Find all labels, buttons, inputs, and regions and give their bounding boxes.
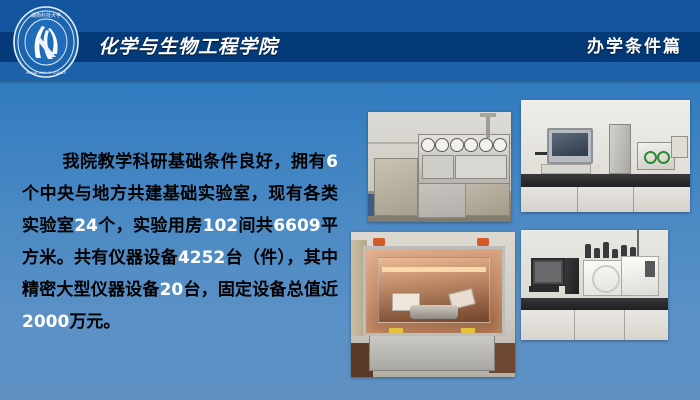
university-seal-logo: 湖南科技大学 HUNAN UNIV. OF SCIENCE [12, 6, 80, 78]
body-text-run: 台，固定设备总值近 [183, 280, 338, 300]
header-band-top [0, 0, 700, 32]
body-text-run: 我院教学科研基础条件良好，拥有 [63, 152, 327, 172]
body-stat-value: 6609 [273, 216, 320, 236]
body-text-run: 万元。 [69, 312, 120, 332]
body-stat-value: 4252 [178, 248, 225, 268]
photo-computer-workstation-instrument-bench [521, 100, 690, 212]
body-stat-value: 2000 [22, 312, 69, 332]
svg-text:HUNAN UNIV. OF SCIENCE: HUNAN UNIV. OF SCIENCE [26, 71, 66, 75]
slide-canvas: 湖南科技大学 HUNAN UNIV. OF SCIENCE 化学与生物工程学院 … [0, 0, 700, 400]
body-stat-value: 20 [160, 280, 184, 300]
body-stat-value: 102 [203, 216, 239, 236]
body-text-run: 个，实验用房 [98, 216, 203, 236]
body-stat-value: 6 [326, 152, 338, 172]
college-title: 化学与生物工程学院 [98, 33, 278, 61]
body-paragraph: 我院教学科研基础条件良好，拥有6个中央与地方共建基础实验室，现有各类实验室24个… [22, 146, 338, 338]
header-band-bottom [0, 62, 700, 80]
body-text-run: 间共 [238, 216, 273, 236]
photo-x-ray-diffractometer-chamber [351, 232, 515, 377]
photo-gc-ms-analysis-bench [521, 230, 668, 340]
svg-text:湖南科技大学: 湖南科技大学 [31, 12, 61, 19]
photo-supercritical-extraction-reactor-panel [368, 112, 511, 222]
header-drop-shadow [0, 80, 700, 84]
body-stat-value: 24 [74, 216, 98, 236]
section-title: 办学条件篇 [587, 33, 682, 61]
